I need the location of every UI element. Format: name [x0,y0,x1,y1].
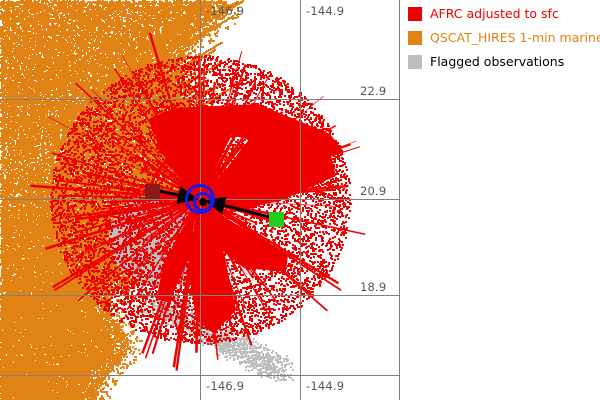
track-start-marker[interactable] [145,184,160,199]
legend-swatch-flagged [408,55,422,69]
legend-panel: AFRC adjusted to sfc QSCAT_HIRES 1-min m… [400,0,600,400]
track-end-marker[interactable] [269,212,284,227]
gridline-horizontal-0 [0,99,400,100]
plot-area: -146.9-144.9-146.9-144.922.920.918.9 [0,0,400,400]
legend-swatch-qscat [408,31,422,45]
tick-bottom-0: -146.9 [206,379,244,393]
storm-center-marker[interactable] [185,184,215,214]
gridline-horizontal-3 [0,375,400,376]
tick-right-0: 22.9 [360,84,386,98]
gridline-vertical-1 [300,0,301,400]
legend-label-afrc: AFRC adjusted to sfc [430,7,559,21]
legend-item-afrc[interactable]: AFRC adjusted to sfc [408,6,559,22]
legend-item-qscat[interactable]: QSCAT_HIRES 1-min marine [408,30,600,46]
legend-label-flagged: Flagged observations [430,55,564,69]
legend-item-flagged[interactable]: Flagged observations [408,54,564,70]
tick-top-1: -144.9 [306,4,344,18]
tick-right-1: 20.9 [360,184,386,198]
tick-bottom-1: -144.9 [306,379,344,393]
tick-top-0: -146.9 [206,4,244,18]
legend-swatch-afrc [408,7,422,21]
observation-map-figure: -146.9-144.9-146.9-144.922.920.918.9 AFR… [0,0,600,400]
tick-right-2: 18.9 [360,280,386,294]
gridline-horizontal-2 [0,295,400,296]
legend-label-qscat: QSCAT_HIRES 1-min marine [430,31,600,45]
